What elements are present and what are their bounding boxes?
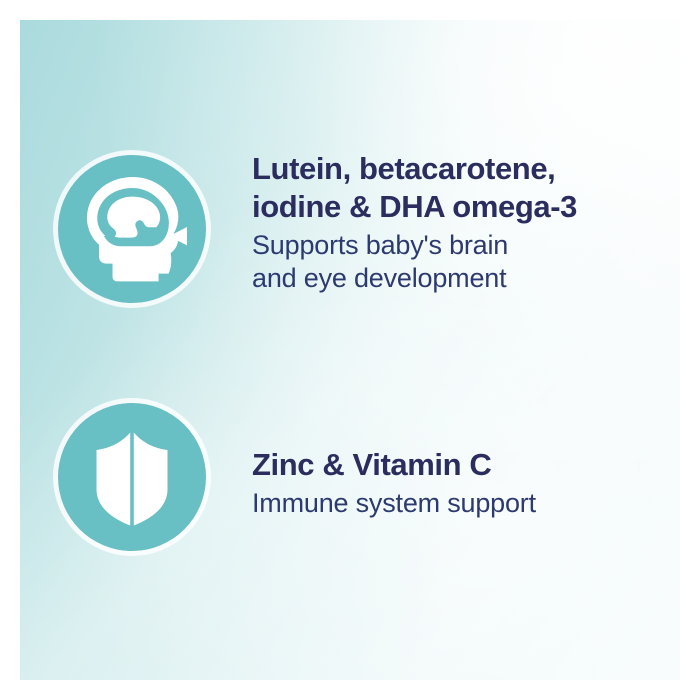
feature-headline: Zinc & Vitamin C <box>252 446 536 484</box>
shield-icon-disc <box>58 403 206 551</box>
feature-headline: Lutein, betacarotene, iodine & DHA omega… <box>252 150 577 226</box>
promo-card: Lutein, betacarotene, iodine & DHA omega… <box>0 0 700 700</box>
feature-text-brain-eye-development: Lutein, betacarotene, iodine & DHA omega… <box>252 150 577 295</box>
panel-sheen <box>20 20 680 680</box>
shield-icon <box>58 403 206 551</box>
head-brain-icon <box>58 155 206 303</box>
feature-row-brain-eye-development: Lutein, betacarotene, iodine & DHA omega… <box>58 135 577 303</box>
feature-subline: Immune system support <box>252 487 536 520</box>
feature-row-immune-support: Zinc & Vitamin C Immune system support <box>58 383 536 551</box>
feature-subline: Supports baby's brain and eye developmen… <box>252 229 577 295</box>
head-brain-icon-disc <box>58 155 206 303</box>
feature-text-immune-support: Zinc & Vitamin C Immune system support <box>252 446 536 520</box>
gradient-panel <box>20 20 680 680</box>
